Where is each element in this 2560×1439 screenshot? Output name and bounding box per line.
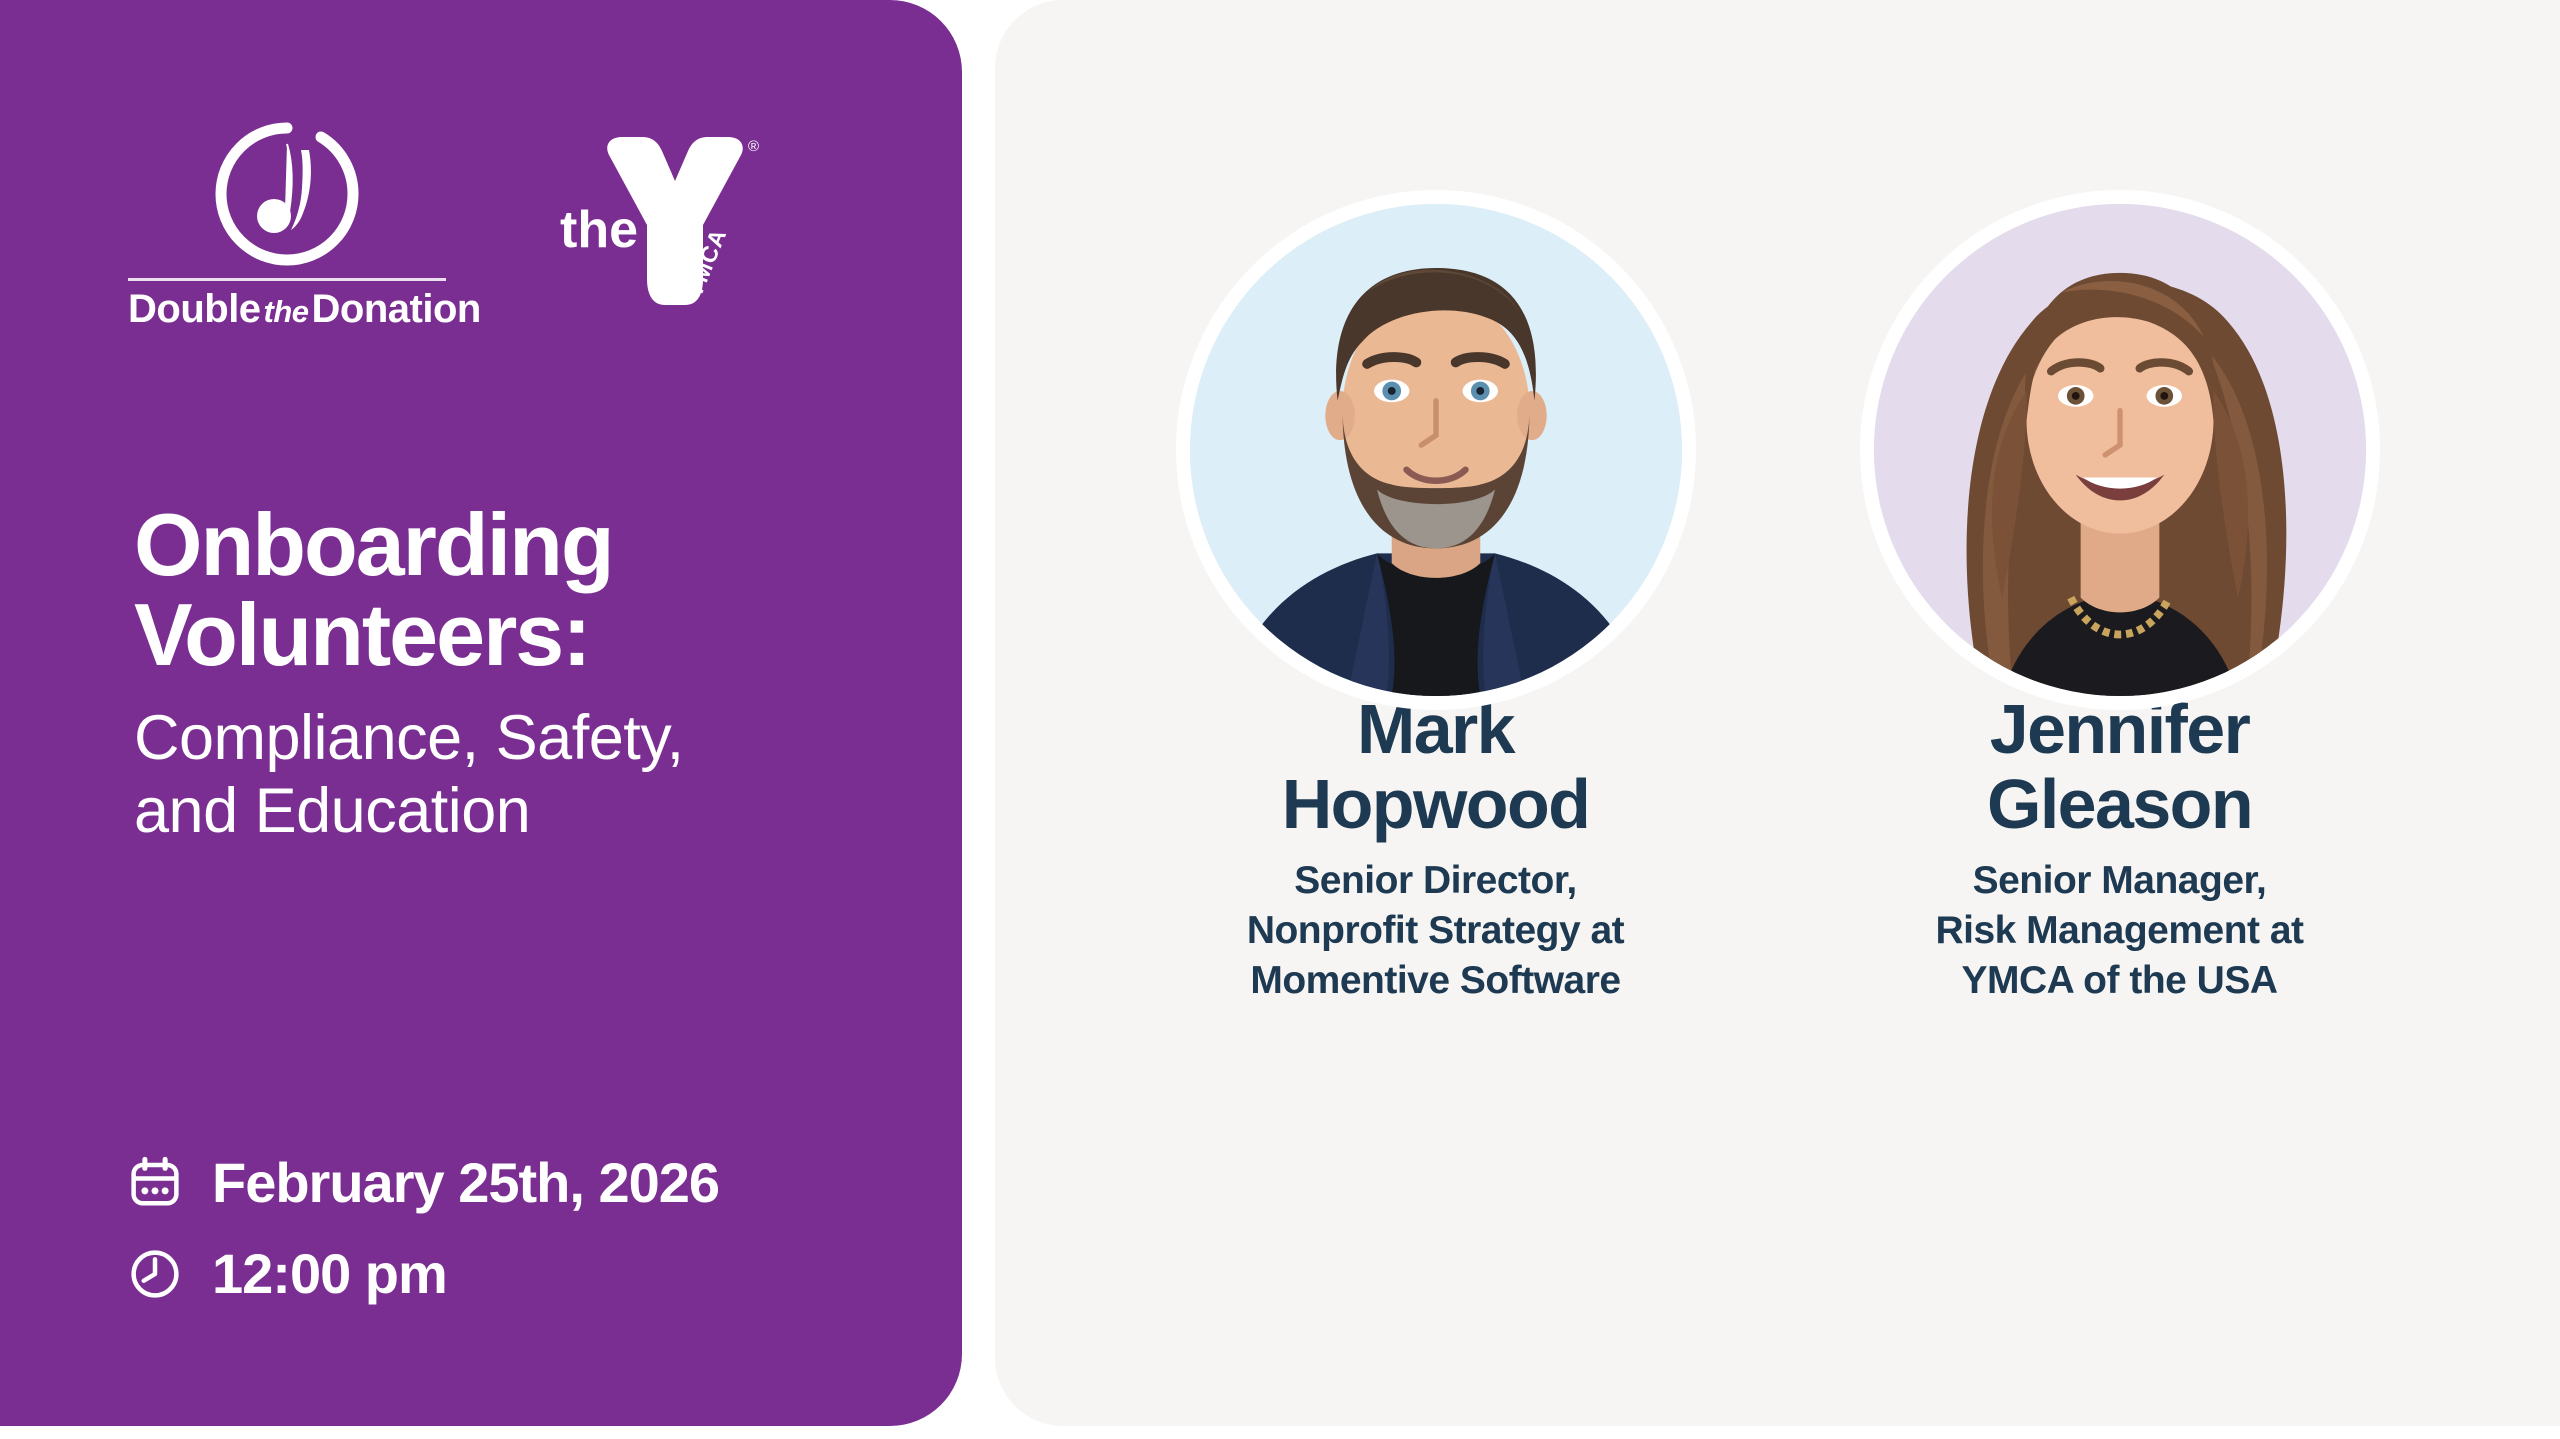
headline-block: Onboarding Volunteers: Compliance, Safet…	[134, 500, 924, 848]
speaker-card: Mark Hopwood Senior Director, Nonprofit …	[1156, 40, 1716, 1426]
speaker-name: Mark Hopwood	[1282, 692, 1590, 842]
speaker-photo-wrap	[1840, 40, 2400, 710]
webinar-promo-card: DoubletheDonation the YMCA ® Onboarding …	[0, 0, 2560, 1439]
double-the-donation-mark-icon	[201, 120, 373, 272]
avatar	[1860, 190, 2380, 710]
speaker-title-line-3: Momentive Software	[1247, 956, 1624, 1006]
event-date-text: February 25th, 2026	[212, 1150, 719, 1215]
speakers-list: Mark Hopwood Senior Director, Nonprofit …	[995, 0, 2560, 1426]
speaker-portrait-jennifer	[1874, 204, 2366, 696]
ymca-y-icon: the YMCA ®	[552, 129, 762, 324]
speaker-photo-wrap	[1156, 40, 1716, 710]
event-details: February 25th, 2026 12:00 pm	[128, 1150, 719, 1332]
speaker-title-line-2: Risk Management at	[1935, 906, 2303, 956]
avatar	[1176, 190, 1696, 710]
headline-subtitle-line-1: Compliance, Safety,	[134, 702, 924, 775]
speaker-name-line-2: Hopwood	[1282, 767, 1590, 842]
speaker-card: Jennifer Gleason Senior Manager, Risk Ma…	[1840, 40, 2400, 1426]
event-date-row: February 25th, 2026	[128, 1150, 719, 1215]
headline-subtitle-line-2: and Education	[134, 775, 924, 848]
speaker-title: Senior Manager, Risk Management at YMCA …	[1935, 856, 2303, 1006]
headline-line-1: Onboarding	[134, 500, 924, 590]
speaker-portrait-mark	[1190, 204, 1682, 696]
double-the-donation-logo: DoubletheDonation	[128, 120, 446, 332]
speaker-title: Senior Director, Nonprofit Strategy at M…	[1247, 856, 1624, 1006]
double-the-donation-wordmark: DoubletheDonation	[128, 287, 446, 332]
speaker-title-line-1: Senior Manager,	[1935, 856, 2303, 906]
logo-row: DoubletheDonation the YMCA ®	[128, 120, 762, 332]
headline-line-2: Volunteers:	[134, 590, 924, 680]
speaker-name: Jennifer Gleason	[1987, 692, 2252, 842]
logo-divider-rule	[128, 278, 446, 281]
event-time-text: 12:00 pm	[212, 1241, 447, 1306]
clock-icon	[128, 1247, 182, 1301]
ymca-the-text: the	[560, 201, 638, 259]
ymca-logo: the YMCA ®	[552, 129, 762, 324]
event-time-row: 12:00 pm	[128, 1241, 719, 1306]
speaker-title-line-3: YMCA of the USA	[1935, 956, 2303, 1006]
right-speakers-panel: Mark Hopwood Senior Director, Nonprofit …	[995, 0, 2560, 1426]
calendar-icon	[128, 1156, 182, 1210]
speaker-name-line-2: Gleason	[1987, 767, 2252, 842]
left-purple-panel: DoubletheDonation the YMCA ® Onboarding …	[0, 0, 962, 1426]
registered-mark-icon: ®	[748, 138, 759, 155]
speaker-title-line-1: Senior Director,	[1247, 856, 1624, 906]
speaker-title-line-2: Nonprofit Strategy at	[1247, 906, 1624, 956]
